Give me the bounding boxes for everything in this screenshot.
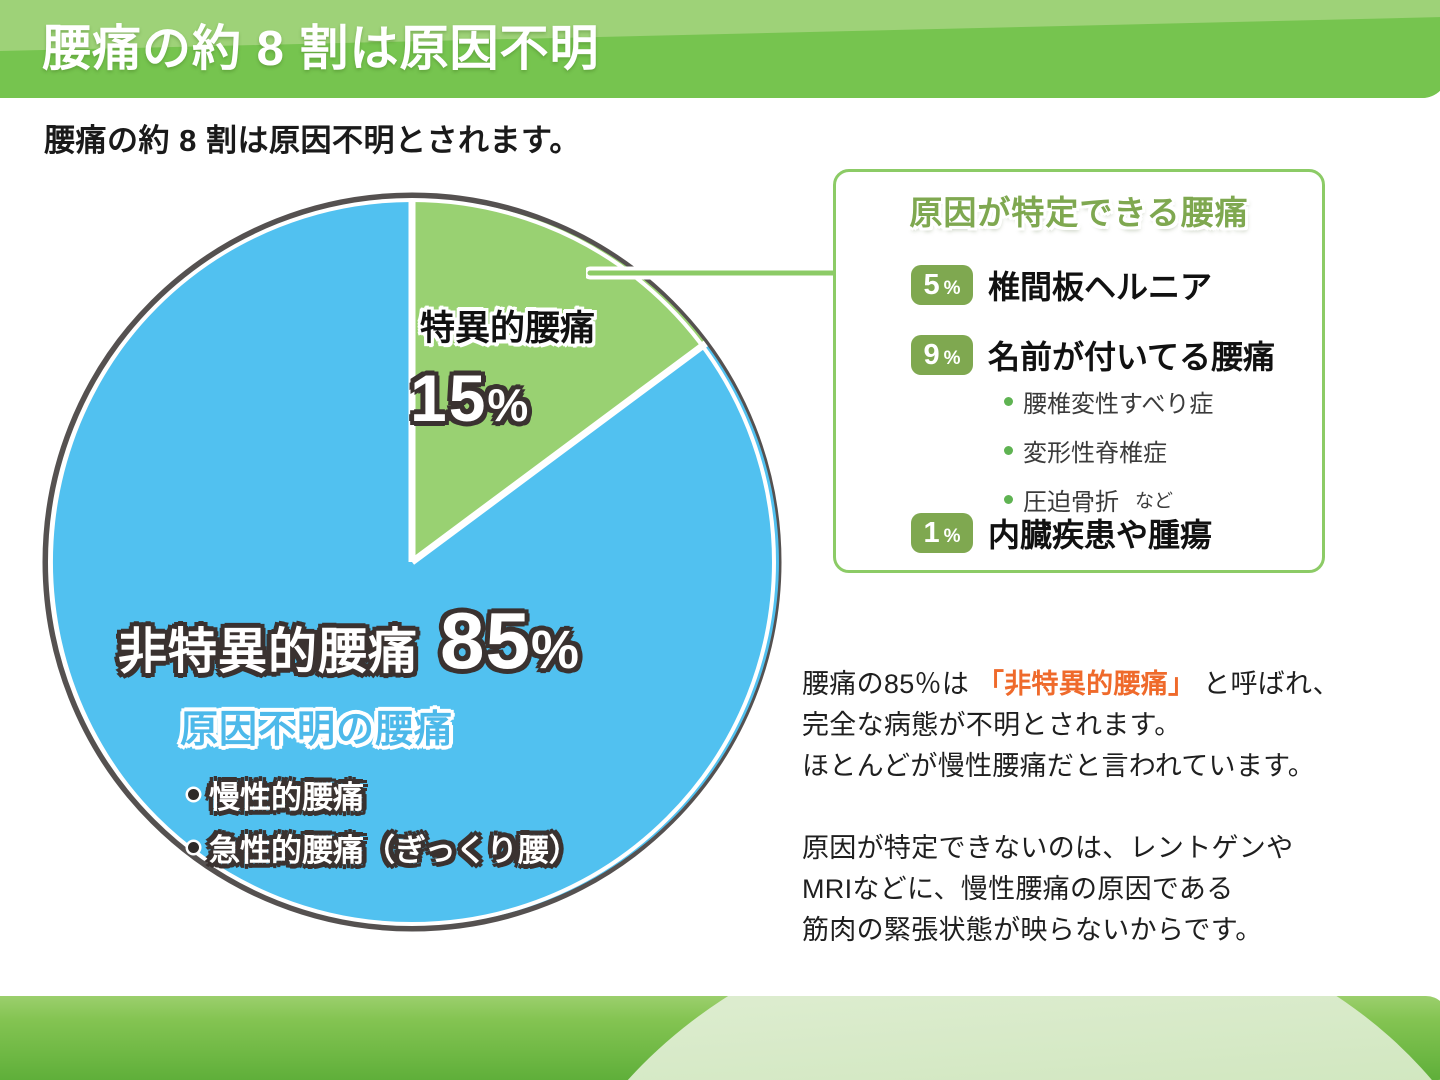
callout-title: 原因が特定できる腰痛 — [836, 186, 1322, 234]
pie-label-nonspecific: 非特異的腰痛 — [118, 612, 418, 683]
callout-box: 原因が特定できる腰痛 5 % 椎間板ヘルニア 9 % 名前が付いてる腰痛 腰椎変… — [833, 169, 1325, 573]
body-p1-a: 腰痛の85％は — [802, 669, 977, 699]
pie-bullet-list: 慢性的腰痛 急性的腰痛（ぎっくり腰） — [188, 772, 580, 878]
body-p1-b: と呼ばれ、 — [1195, 669, 1340, 699]
list-item: 慢性的腰痛 — [188, 772, 580, 817]
pie-bullet-label: 急性的腰痛（ぎっくり腰） — [209, 825, 580, 870]
sublist-label: 変形性脊椎症 — [1023, 433, 1167, 468]
bullet-dot-icon — [1004, 397, 1013, 406]
badge-symbol: % — [944, 348, 961, 370]
pie-value-nonspecific-number: 85 — [440, 596, 531, 685]
pie-value-nonspecific-symbol: % — [531, 620, 580, 680]
bullet-dot-icon — [1004, 446, 1013, 455]
list-item: 腰椎変性すべり症 — [1004, 384, 1213, 419]
callout-connector-line — [586, 262, 838, 284]
badge-symbol: % — [944, 278, 961, 300]
pie-bullet-label: 慢性的腰痛 — [209, 772, 364, 817]
status-badge: 5 % — [911, 265, 973, 305]
callout-sublist: 腰椎変性すべり症 変形性脊椎症 圧迫骨折 など — [1004, 384, 1213, 531]
subtitle-text: 腰痛の約 8 割は原因不明とされます。 — [44, 115, 581, 160]
body-p1-highlight: 「非特異的腰痛」 — [977, 669, 1195, 699]
body-text: 腰痛の85％は 「非特異的腰痛」 と呼ばれ、 完全な病態が不明とされます。 ほと… — [802, 664, 1382, 951]
badge-percent: 9 — [923, 335, 939, 375]
list-item: 変形性脊椎症 — [1004, 433, 1213, 468]
bullet-dot-icon — [1004, 495, 1013, 504]
body-p2-line1: 原因が特定できないのは、レントゲンや — [802, 833, 1293, 863]
body-p2-line2: MRIなどに、慢性腰痛の原因である — [802, 874, 1234, 904]
pie-value-specific-number: 15 — [410, 361, 487, 435]
body-p2-line3: 筋肉の緊張状態が映らないからです。 — [802, 915, 1263, 945]
body-paragraph-2: 原因が特定できないのは、レントゲンや MRIなどに、慢性腰痛の原因である 筋肉の… — [802, 828, 1382, 951]
body-p1-line3: ほとんどが慢性腰痛だと言われています。 — [802, 751, 1315, 781]
footer-swoosh-decoration — [495, 996, 1440, 1080]
callout-row-label: 名前が付いてる腰痛 — [988, 332, 1275, 378]
badge-symbol: % — [944, 526, 961, 548]
pie-value-nonspecific: 85% — [440, 595, 580, 687]
sublist-label: 腰椎変性すべり症 — [1023, 384, 1213, 419]
bullet-dot-icon — [188, 789, 199, 800]
badge-percent: 1 — [923, 513, 939, 553]
page-title: 腰痛の約 8 割は原因不明 — [42, 14, 599, 84]
callout-row-label: 内臓疾患や腫瘍 — [988, 510, 1212, 556]
pie-chart: 特異的腰痛 15% 非特異的腰痛 85% 原因不明の腰痛 慢性的腰痛 急性的腰痛… — [40, 190, 785, 935]
pie-value-specific: 15% — [410, 360, 530, 436]
pie-sublabel-unknown: 原因不明の腰痛 — [180, 698, 453, 753]
sublist-suffix: など — [1135, 486, 1173, 513]
list-item: 急性的腰痛（ぎっくり腰） — [188, 825, 580, 870]
status-badge: 1 % — [911, 513, 973, 553]
footer-bar — [0, 996, 1440, 1080]
callout-row-organ: 1 % 内臓疾患や腫瘍 — [911, 510, 1212, 556]
pie-value-specific-symbol: % — [487, 379, 530, 431]
slide-root: 腰痛の約 8 割は原因不明 腰痛の約 8 割は原因不明とされます。 特異的腰痛 … — [0, 0, 1440, 1080]
callout-row-label: 椎間板ヘルニア — [988, 262, 1212, 308]
body-paragraph-1: 腰痛の85％は 「非特異的腰痛」 と呼ばれ、 完全な病態が不明とされます。 ほと… — [802, 664, 1382, 787]
bullet-dot-icon — [188, 842, 199, 853]
pie-label-specific: 特異的腰痛 — [420, 300, 595, 351]
callout-row-herniation: 5 % 椎間板ヘルニア — [911, 262, 1212, 308]
status-badge: 9 % — [911, 335, 973, 375]
pie-label-nonspecific-row: 非特異的腰痛 85% — [118, 595, 580, 687]
badge-percent: 5 — [923, 265, 939, 305]
callout-row-named: 9 % 名前が付いてる腰痛 — [911, 332, 1275, 378]
body-p1-line2: 完全な病態が不明とされます。 — [802, 710, 1182, 740]
